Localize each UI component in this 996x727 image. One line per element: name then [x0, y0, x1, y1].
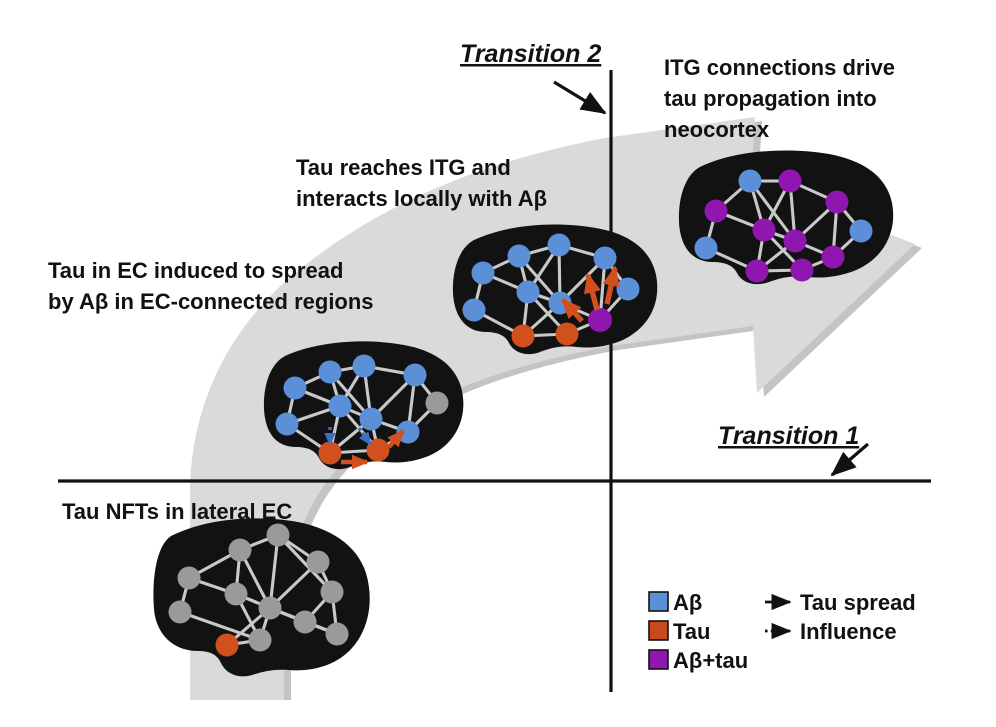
- node-abeta: [517, 281, 540, 304]
- node-abeta: [472, 262, 495, 285]
- legend-label-tau-spread: Tau spread: [800, 590, 916, 615]
- node-gray: [169, 601, 192, 624]
- figure-canvas: Transition 2 Transition 1 ITG connection…: [0, 0, 996, 727]
- node-abeta: [284, 377, 307, 400]
- node-abeta: [508, 245, 531, 268]
- node-abeta-tau: [826, 191, 849, 214]
- node-abeta: [276, 413, 299, 436]
- node-abeta: [463, 299, 486, 322]
- node-gray: [294, 611, 317, 634]
- legend-label-abeta-tau: Aβ+tau: [673, 648, 748, 673]
- legend-label-influence: Influence: [800, 619, 897, 644]
- node-abeta-tau: [746, 260, 769, 283]
- stage3-caption-line2: interacts locally with Aβ: [296, 186, 547, 211]
- node-gray: [321, 581, 344, 604]
- transition1-label: Transition 1: [718, 422, 859, 450]
- node-abeta-tau: [588, 308, 612, 332]
- node-abeta: [850, 220, 873, 243]
- node-abeta: [404, 364, 427, 387]
- stage1-caption: Tau NFTs in lateral EC: [62, 499, 292, 524]
- node-abeta-tau: [779, 170, 802, 193]
- node-tau: [319, 442, 342, 465]
- node-abeta: [739, 170, 762, 193]
- diagram-svg: Transition 2 Transition 1 ITG connection…: [0, 0, 996, 727]
- node-abeta: [360, 408, 383, 431]
- node-abeta: [695, 237, 718, 260]
- node-gray: [426, 392, 449, 415]
- legend: Aβ Tau Aβ+tau Tau spread Influence: [649, 590, 916, 673]
- brain-stage-1: [153, 518, 369, 676]
- node-abeta-tau: [753, 219, 776, 242]
- node-tau: [367, 439, 390, 462]
- node-abeta: [594, 247, 617, 270]
- transition2-label: Transition 2: [460, 40, 601, 68]
- node-gray: [307, 551, 330, 574]
- stage4-caption-line3: neocortex: [664, 117, 770, 142]
- legend-swatch-abeta-tau: [649, 650, 668, 669]
- node-abeta: [617, 278, 640, 301]
- stage4-caption-line2: tau propagation into: [664, 86, 877, 111]
- stage3-caption-line1: Tau reaches ITG and: [296, 155, 511, 180]
- node-gray: [229, 539, 252, 562]
- node-abeta: [548, 234, 571, 257]
- stage2-caption-line2: by Aβ in EC-connected regions: [48, 289, 374, 314]
- node-gray: [225, 583, 248, 606]
- node-gray: [178, 567, 201, 590]
- stage4-caption-line1: ITG connections drive: [664, 55, 895, 80]
- node-abeta-tau: [705, 200, 728, 223]
- node-abeta: [353, 355, 376, 378]
- node-abeta-tau: [822, 246, 845, 269]
- node-tau: [556, 323, 579, 346]
- node-abeta-tau: [791, 259, 814, 282]
- node-tau: [216, 634, 239, 657]
- node-gray: [267, 524, 290, 547]
- stage2-caption-line1: Tau in EC induced to spread: [48, 258, 343, 283]
- node-gray: [259, 597, 282, 620]
- legend-swatch-tau: [649, 621, 668, 640]
- node-abeta: [329, 395, 352, 418]
- node-gray: [326, 623, 349, 646]
- node-abeta: [319, 361, 342, 384]
- transition2-pointer-arrow: [554, 82, 605, 113]
- node-gray: [249, 629, 272, 652]
- legend-swatch-abeta: [649, 592, 668, 611]
- legend-label-abeta: Aβ: [673, 590, 702, 615]
- legend-label-tau: Tau: [673, 619, 710, 644]
- node-abeta-tau: [784, 230, 807, 253]
- node-tau: [512, 325, 535, 348]
